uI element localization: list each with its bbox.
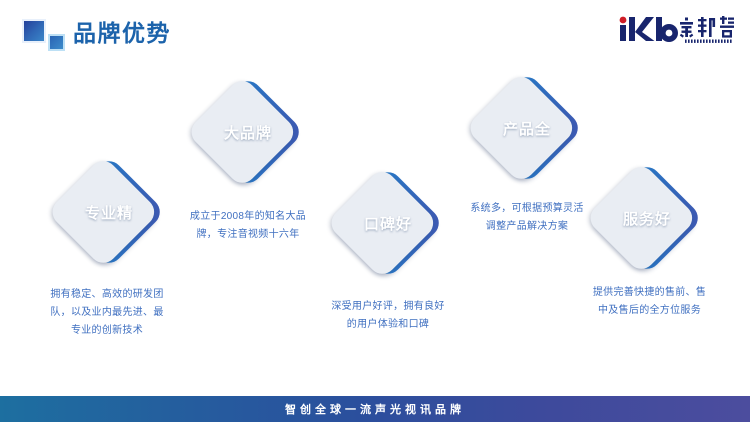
- brand-logo: [615, 13, 737, 45]
- diamond-title: 服务好: [607, 178, 687, 258]
- feature-diamond-3[interactable]: 口碑好: [348, 183, 428, 263]
- feature-desc-3: 深受用户好评，拥有良好 的用户体验和口碑: [303, 298, 473, 334]
- feature-diamond-5[interactable]: 服务好: [607, 178, 687, 258]
- desc-line: 成立于2008年的知名大品: [163, 208, 333, 226]
- footer-slogan: 智创全球一流声光视讯品牌: [285, 401, 465, 417]
- desc-line: 队，以及业内最先进、最: [22, 304, 192, 322]
- feature-diamond-2[interactable]: 大品牌: [208, 92, 288, 172]
- diamond-title: 产品全: [487, 88, 567, 168]
- desc-line: 系统多，可根据预算灵活: [442, 200, 612, 218]
- feature-desc-5: 提供完善快捷的售前、售 中及售后的全方位服务: [562, 284, 737, 320]
- feature-diamond-1[interactable]: 专业精: [69, 172, 149, 252]
- diamond-title: 大品牌: [208, 92, 288, 172]
- diamond-shape: 大品牌: [191, 75, 304, 188]
- diamond-shape: 服务好: [590, 161, 703, 274]
- desc-line: 深受用户好评，拥有良好: [303, 298, 473, 316]
- desc-line: 牌，专注音视频十六年: [163, 226, 333, 244]
- page-title: 品牌优势: [73, 18, 171, 48]
- desc-line: 拥有稳定、高效的研发团: [22, 286, 192, 304]
- desc-line: 调整产品解决方案: [442, 218, 612, 236]
- slide-footer: 智创全球一流声光视讯品牌: [0, 396, 750, 422]
- desc-line: 专业的创新技术: [22, 322, 192, 340]
- desc-line: 的用户体验和口碑: [303, 316, 473, 334]
- slide-root: 品牌优势: [0, 0, 750, 422]
- kingbang-logo-icon: [615, 13, 737, 45]
- diamond-title: 专业精: [69, 172, 149, 252]
- diamond-shape: 口碑好: [331, 166, 444, 279]
- diamond-shape: 产品全: [470, 71, 583, 184]
- feature-desc-1: 拥有稳定、高效的研发团 队，以及业内最先进、最 专业的创新技术: [22, 286, 192, 340]
- square-gradient-small-icon: [48, 34, 65, 51]
- desc-line: 中及售后的全方位服务: [562, 302, 737, 320]
- feature-diamond-4[interactable]: 产品全: [487, 88, 567, 168]
- diamond-shape: 专业精: [52, 155, 165, 268]
- feature-desc-2: 成立于2008年的知名大品 牌，专注音视频十六年: [163, 208, 333, 244]
- square-gradient-large-icon: [22, 19, 46, 43]
- desc-line: 提供完善快捷的售前、售: [562, 284, 737, 302]
- diamond-title: 口碑好: [348, 183, 428, 263]
- feature-desc-4: 系统多，可根据预算灵活 调整产品解决方案: [442, 200, 612, 236]
